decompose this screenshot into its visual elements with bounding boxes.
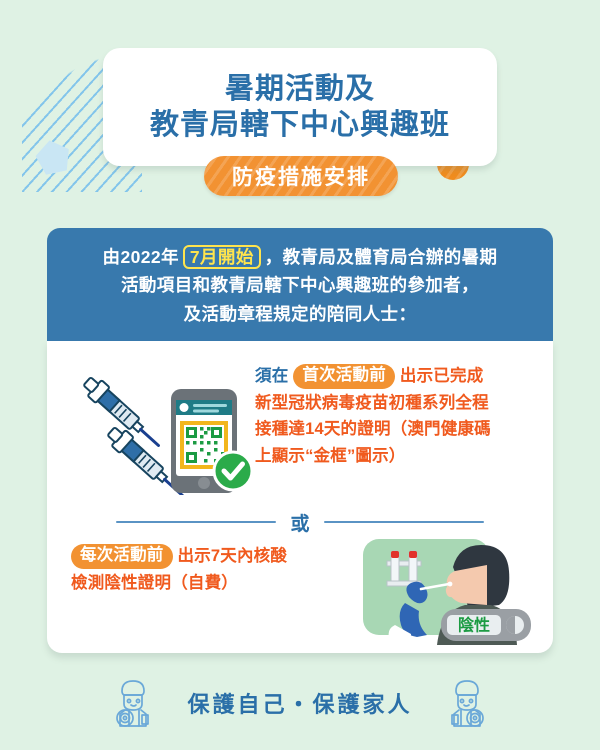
test-pill-badge: 每次活動前 bbox=[71, 544, 173, 568]
vaccine-line-1-rest: 出示已完成 bbox=[400, 363, 484, 390]
green-check-icon bbox=[214, 452, 252, 490]
test-line-2: 檢測陰性證明（自費） bbox=[71, 570, 361, 597]
mascot-shield-left-icon bbox=[111, 677, 157, 729]
test-result-badge: 陰性 bbox=[441, 609, 531, 641]
option-test-row: 每次活動前 出示7天內核酸 檢測陰性證明（自費） bbox=[47, 537, 553, 649]
intro-line-3: 及活動章程規定的陪同人士： bbox=[184, 300, 417, 328]
content-card: 須在 首次活動前 出示已完成 新型冠狀病毒疫苗初種系列全程 接種達14天的證明（… bbox=[47, 341, 553, 653]
test-result-badge-label: 陰性 bbox=[458, 616, 490, 635]
mascot-shield-right-icon bbox=[443, 677, 489, 729]
footer: 保護自己・保護家人 bbox=[0, 672, 600, 734]
subtitle-badge-label: 防疫措施安排 bbox=[232, 161, 370, 191]
vaccine-line-4: 上顯示“金框”圖示） bbox=[255, 443, 543, 470]
option-vaccine-text: 須在 首次活動前 出示已完成 新型冠狀病毒疫苗初種系列全程 接種達14天的證明（… bbox=[255, 363, 543, 470]
or-divider: 或 bbox=[47, 509, 553, 535]
option-vaccine-row: 須在 首次活動前 出示已完成 新型冠狀病毒疫苗初種系列全程 接種達14天的證明（… bbox=[47, 363, 553, 503]
intro-line-2: 活動項目和教青局轄下中心興趣班的參加者， bbox=[121, 271, 479, 299]
test-line-1: 每次活動前 出示7天內核酸 bbox=[71, 543, 361, 570]
nasal-swab-test-illustration: 陰性 bbox=[343, 533, 539, 645]
option-test-text: 每次活動前 出示7天內核酸 檢測陰性證明（自費） bbox=[71, 543, 361, 596]
vaccine-illustration bbox=[71, 371, 261, 495]
page-title-line-1: 暑期活動及 bbox=[225, 73, 375, 105]
footer-slogan: 保護自己・保護家人 bbox=[187, 687, 412, 719]
vaccine-line-3: 接種達14天的證明（澳門健康碼 bbox=[255, 416, 543, 443]
page-title-line-2: 教青局轄下中心興趣班 bbox=[150, 109, 450, 141]
divider-rule-left bbox=[116, 521, 276, 523]
divider-label: 或 bbox=[290, 509, 309, 536]
intro-block: 由2022年 7月開始 ，教青局及體育局合辦的暑期 活動項目和教青局轄下中心興趣… bbox=[47, 228, 553, 341]
intro-line-1-suffix: ，教青局及體育局合辦的暑期 bbox=[265, 243, 498, 271]
vaccine-pill-badge: 首次活動前 bbox=[293, 364, 395, 388]
test-line-1-rest: 出示7天內核酸 bbox=[178, 543, 288, 570]
pentagon-shape-decoration bbox=[33, 137, 73, 176]
subtitle-badge: 防疫措施安排 bbox=[204, 156, 398, 196]
vaccine-prefix: 須在 bbox=[255, 363, 288, 390]
intro-highlight-july: 7月開始 bbox=[183, 245, 261, 269]
title-card: 暑期活動及 教青局轄下中心興趣班 bbox=[103, 48, 497, 166]
intro-line-1: 由2022年 7月開始 ，教青局及體育局合辦的暑期 bbox=[103, 243, 498, 271]
vaccine-line-2: 新型冠狀病毒疫苗初種系列全程 bbox=[255, 390, 543, 417]
intro-line-1-prefix: 由2022年 bbox=[103, 243, 179, 271]
divider-rule-right bbox=[324, 521, 484, 523]
vaccine-line-1: 須在 首次活動前 出示已完成 bbox=[255, 363, 543, 390]
